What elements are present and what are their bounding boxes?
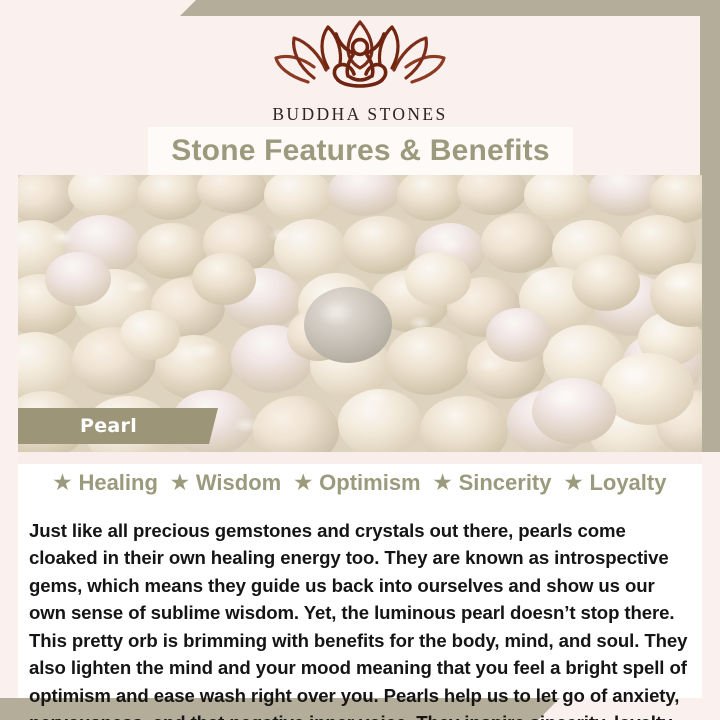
lotus-meditating-figure-icon <box>274 18 446 103</box>
star-icon: ★ <box>434 473 452 493</box>
star-icon: ★ <box>565 473 583 493</box>
benefit-item: ★ Sincerity <box>434 470 552 496</box>
benefit-label: Optimism <box>319 470 420 496</box>
page-title-banner: Stone Features & Benefits <box>148 127 573 175</box>
stone-name: Pearl <box>80 415 137 437</box>
infographic-page: BUDDHA STONES Stone Features & Benefits <box>0 0 720 720</box>
star-icon: ★ <box>171 473 189 493</box>
panel-top-accent-strip <box>18 452 702 464</box>
benefit-item: ★ Optimism <box>294 470 420 496</box>
benefit-label: Wisdom <box>196 470 281 496</box>
benefit-label: Healing <box>78 470 157 496</box>
benefit-item: ★ Healing <box>54 470 158 496</box>
stone-description: Just like all precious gemstones and cry… <box>29 517 693 720</box>
star-icon: ★ <box>54 473 72 493</box>
benefit-label: Loyalty <box>589 470 666 496</box>
benefit-label: Sincerity <box>459 470 552 496</box>
page-title: Stone Features & Benefits <box>171 134 549 168</box>
benefit-item: ★ Loyalty <box>565 470 667 496</box>
decorative-bar-top <box>180 0 720 16</box>
brand-name: BUDDHA STONES <box>272 104 447 125</box>
benefits-list: ★ Healing ★ Wisdom ★ Optimism ★ Sincerit… <box>18 470 702 496</box>
benefit-item: ★ Wisdom <box>171 470 281 496</box>
star-icon: ★ <box>294 473 312 493</box>
brand-logo: BUDDHA STONES <box>0 18 720 123</box>
stone-name-chip: Pearl <box>18 408 218 444</box>
